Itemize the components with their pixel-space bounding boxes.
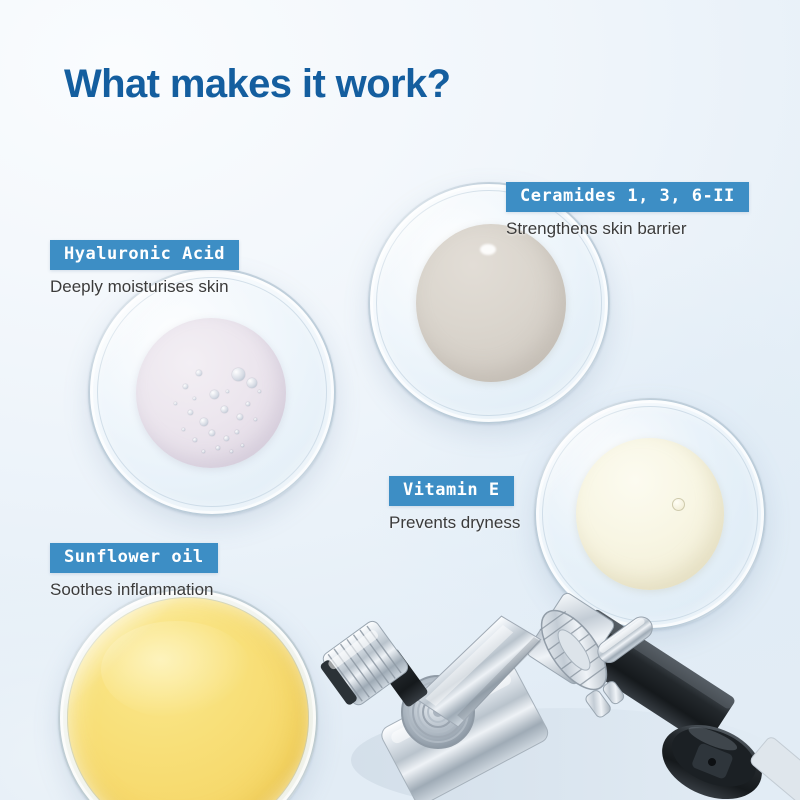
ingredient-benefit-hyaluronic-acid: Deeply moisturises skin [50,277,239,297]
petri-dish-hyaluronic-acid [88,268,336,516]
ingredient-benefit-ceramides: Strengthens skin barrier [506,219,749,239]
ingredient-benefit-sunflower-oil: Soothes inflammation [50,580,218,600]
ingredient-tag-vitamin-e: Vitamin E [389,476,514,506]
callout-ceramides: Ceramides 1, 3, 6-II Strengthens skin ba… [506,182,749,239]
microscope-eyepiece [316,619,410,711]
ingredient-tag-ceramides: Ceramides 1, 3, 6-II [506,182,749,212]
ingredient-tag-sunflower-oil: Sunflower oil [50,543,218,573]
poster-canvas: What makes it work? Ceramides 1, 3, 6-II… [0,0,800,800]
dish-inner-rim [97,277,328,508]
callout-vitamin-e: Vitamin E Prevents dryness [389,476,520,533]
microscope [316,540,800,800]
ingredient-tag-hyaluronic-acid: Hyaluronic Acid [50,240,239,270]
page-title: What makes it work? [64,62,450,107]
callout-sunflower-oil: Sunflower oil Soothes inflammation [50,543,218,600]
ingredient-benefit-vitamin-e: Prevents dryness [389,513,520,533]
callout-hyaluronic-acid: Hyaluronic Acid Deeply moisturises skin [50,240,239,297]
petri-dish-sunflower-oil [58,588,318,800]
